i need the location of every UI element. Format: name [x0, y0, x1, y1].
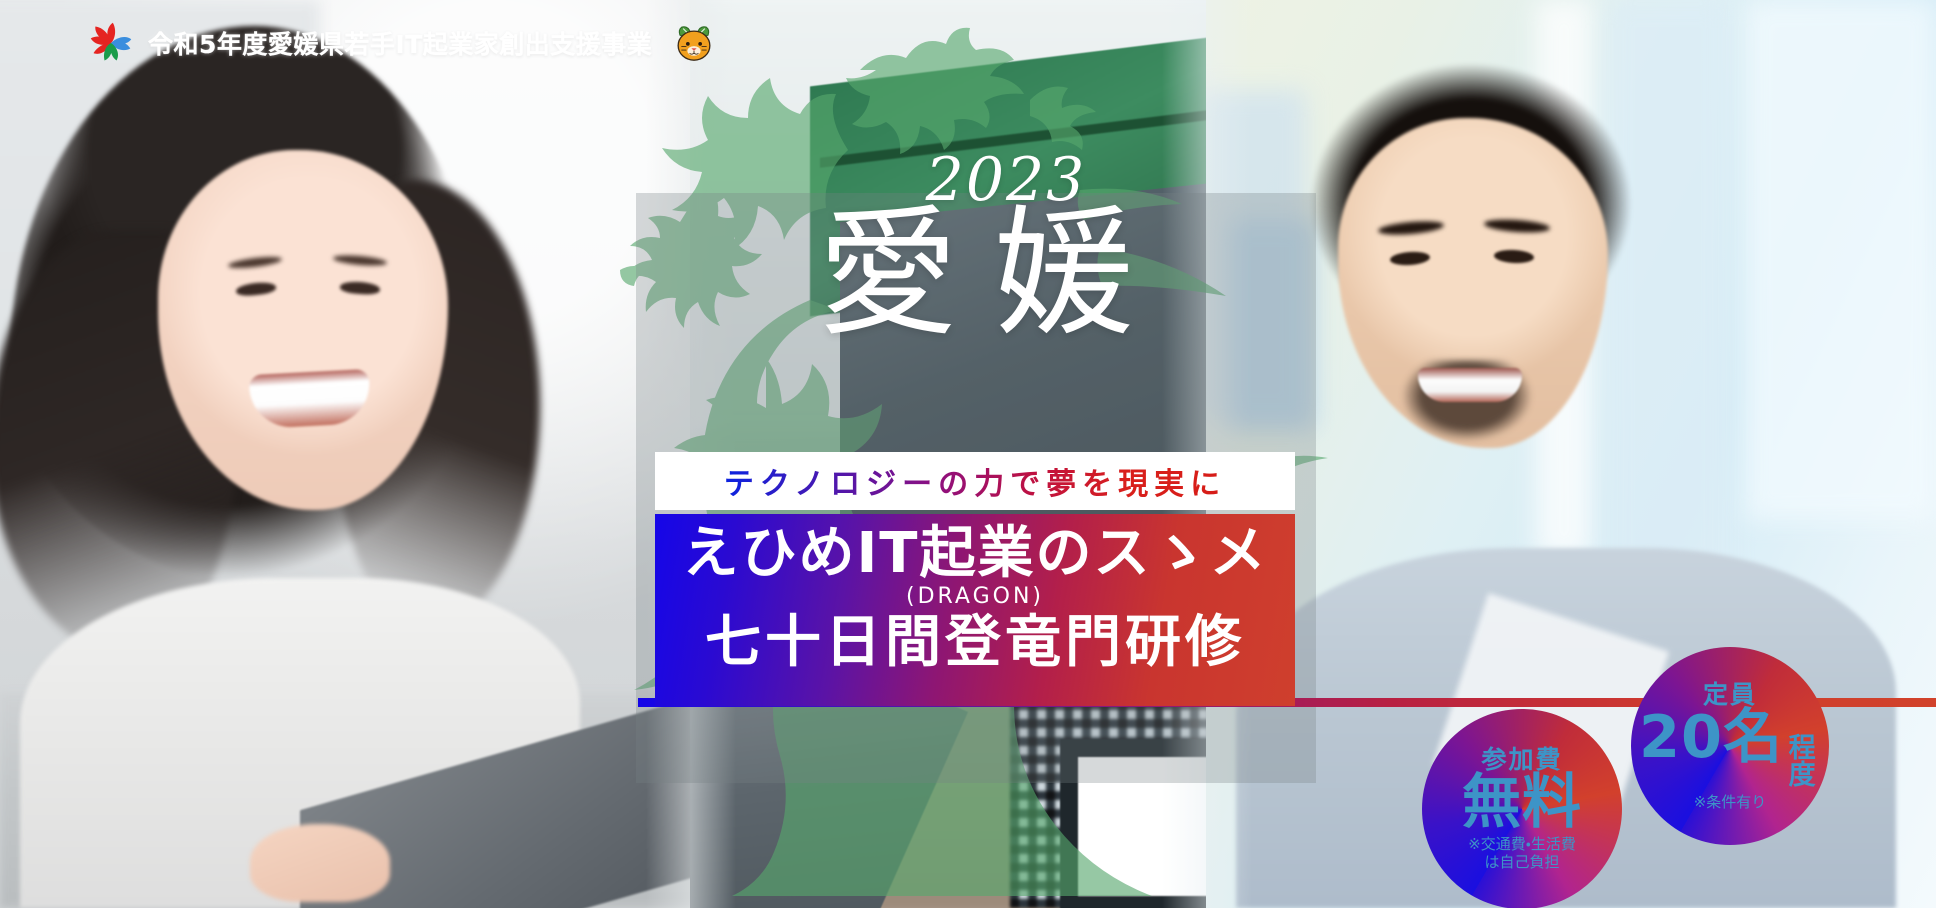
badge-capacity-suffix: 程度 [1784, 735, 1821, 790]
badge-capacity-unit: 名 [1723, 707, 1783, 767]
title-main: えひめIT起業のスゝメ [682, 520, 1267, 588]
badge-capacity: 定員 20名程度 ※条件有り [1639, 655, 1821, 837]
mikyan-mascot-icon [672, 21, 716, 65]
hero-banner: 令和5年度愛媛県若手IT起業家創出支援事業 [0, 0, 1936, 908]
pinwheel-logo-icon [88, 20, 134, 66]
center-logo-block: 2023 愛媛 [636, 150, 1316, 347]
badge-fee-value: 無料 [1462, 772, 1582, 832]
title-sub-dragon: (DRAGON) [906, 586, 1044, 608]
badge-capacity-note: ※条件有り [1694, 793, 1767, 811]
title-second: 七十日間登竜門研修 [705, 610, 1245, 676]
badge-fee-note-line2: は自己負担 [1484, 853, 1559, 871]
prefecture-kanji: 愛媛 [636, 204, 1316, 347]
tagline-text: テクノロジーの力で夢を現実に [724, 459, 1226, 503]
badge-fee-note-line1: ※交通費・生活費 [1468, 835, 1576, 853]
badge-participation-fee: 参加費 無料 ※交通費・生活費 は自己負担 [1430, 717, 1614, 901]
header-title: 令和5年度愛媛県若手IT起業家創出支援事業 [148, 25, 652, 61]
badge-capacity-number: 20 [1639, 707, 1723, 767]
badge-capacity-value: 20名程度 [1639, 707, 1821, 790]
title-panel: えひめIT起業のスゝメ (DRAGON) 七十日間登竜門研修 [655, 514, 1295, 706]
badge-fee-note: ※交通費・生活費 は自己負担 [1468, 835, 1576, 872]
header-bar: 令和5年度愛媛県若手IT起業家創出支援事業 [0, 0, 1936, 86]
tagline-ribbon: テクノロジーの力で夢を現実に [655, 452, 1295, 510]
